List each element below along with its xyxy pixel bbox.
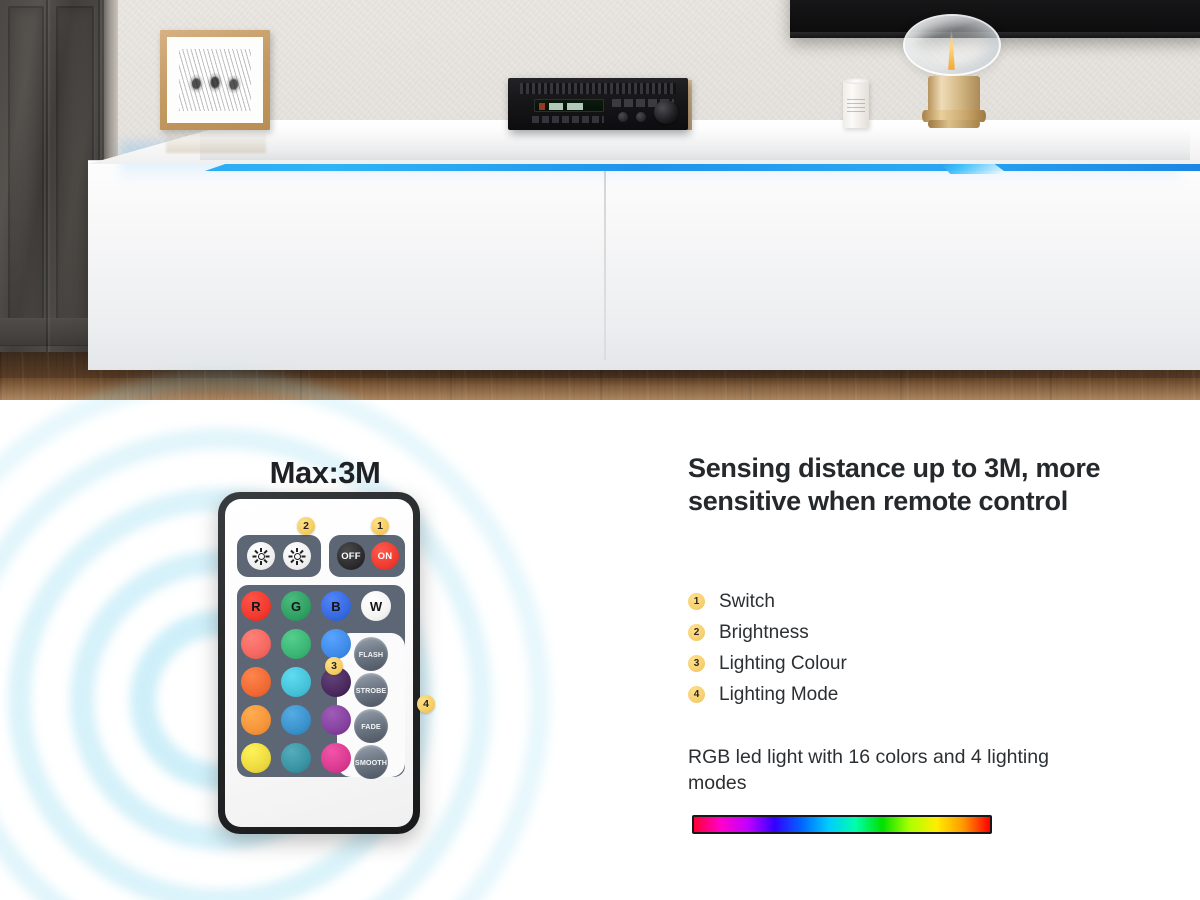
candle-top bbox=[843, 78, 869, 84]
marker-3: 3 bbox=[325, 657, 343, 675]
receiver-knob bbox=[636, 112, 646, 122]
mode-button-label: FLASH bbox=[359, 650, 383, 659]
legend-item-4: 4Lighting Mode bbox=[688, 679, 1108, 710]
receiver-button-row bbox=[532, 116, 604, 123]
color-button-label: B bbox=[331, 599, 340, 614]
subtext: RGB led light with 16 colors and 4 light… bbox=[688, 744, 1088, 797]
cabinet-body bbox=[88, 160, 1200, 370]
color-button[interactable] bbox=[281, 743, 311, 773]
color-button[interactable] bbox=[281, 705, 311, 735]
color-button-G[interactable]: G bbox=[281, 591, 311, 621]
rgb-spectrum-bar bbox=[692, 815, 992, 834]
sun-icon bbox=[254, 549, 269, 564]
legend-item-3: 3Lighting Colour bbox=[688, 648, 1108, 679]
room-photo bbox=[0, 0, 1200, 400]
power-on-button[interactable]: ON bbox=[371, 542, 399, 570]
color-button-label: G bbox=[291, 599, 301, 614]
headline: Sensing distance up to 3M, more sensitiv… bbox=[688, 452, 1108, 518]
panel-molding bbox=[8, 6, 44, 336]
lamp-base bbox=[928, 76, 980, 112]
color-button-B[interactable]: B bbox=[321, 591, 351, 621]
picture-frame bbox=[160, 30, 270, 130]
color-button[interactable] bbox=[321, 629, 351, 659]
receiver-display bbox=[534, 99, 604, 112]
frame-reflection bbox=[166, 131, 266, 153]
mode-button-strobe[interactable]: STROBE bbox=[354, 673, 388, 707]
frame-artwork bbox=[179, 49, 251, 111]
lamp-ring bbox=[928, 120, 980, 128]
legend-label: Lighting Colour bbox=[719, 653, 847, 675]
power-on-label: ON bbox=[378, 551, 393, 562]
frame-mat bbox=[167, 37, 263, 123]
mode-button-flash[interactable]: FLASH bbox=[354, 637, 388, 671]
legend-label: Brightness bbox=[719, 622, 809, 644]
remote-face: OFF ON RGBW FLASHSTROBEFADESMOOTH 2 1 3 … bbox=[225, 499, 413, 827]
color-button-label: W bbox=[370, 599, 382, 614]
marker-2: 2 bbox=[297, 517, 315, 535]
brightness-up-button[interactable] bbox=[247, 542, 275, 570]
receiver-volume-knob bbox=[654, 100, 678, 124]
marker-4: 4 bbox=[417, 695, 435, 713]
feature-legend: 1Switch2Brightness3Lighting Colour4Light… bbox=[688, 586, 1108, 710]
legend-badge: 1 bbox=[688, 593, 705, 610]
power-off-button[interactable]: OFF bbox=[337, 542, 365, 570]
product-infographic: Max:3M bbox=[0, 0, 1200, 900]
color-button-W[interactable]: W bbox=[361, 591, 391, 621]
cabinet-gloss bbox=[200, 128, 1190, 160]
remote-control: OFF ON RGBW FLASHSTROBEFADESMOOTH 2 1 3 … bbox=[218, 492, 420, 834]
marker-1: 1 bbox=[371, 517, 389, 535]
legend-item-1: 1Switch bbox=[688, 586, 1108, 617]
max-distance-label: Max:3M bbox=[255, 455, 395, 491]
mode-button-fade[interactable]: FADE bbox=[354, 709, 388, 743]
color-button[interactable] bbox=[281, 667, 311, 697]
av-receiver bbox=[508, 78, 688, 130]
sun-icon bbox=[290, 549, 305, 564]
color-button[interactable] bbox=[241, 629, 271, 659]
legend-label: Lighting Mode bbox=[719, 684, 838, 706]
legend-badge: 4 bbox=[688, 686, 705, 703]
color-button[interactable] bbox=[281, 629, 311, 659]
candle-jar bbox=[843, 80, 869, 128]
receiver-vent bbox=[520, 83, 676, 94]
legend-badge: 3 bbox=[688, 655, 705, 672]
legend-label: Switch bbox=[719, 591, 775, 613]
mode-button-smooth[interactable]: SMOOTH bbox=[354, 745, 388, 779]
mode-button-label: SMOOTH bbox=[355, 758, 387, 767]
receiver-knob bbox=[618, 112, 628, 122]
color-button[interactable] bbox=[321, 743, 351, 773]
color-button-R[interactable]: R bbox=[241, 591, 271, 621]
cabinet-divider bbox=[604, 160, 606, 360]
spectrum-fill bbox=[694, 817, 990, 832]
legend-badge: 2 bbox=[688, 624, 705, 641]
color-button[interactable] bbox=[321, 705, 351, 735]
color-button-label: R bbox=[251, 599, 260, 614]
legend-item-2: 2Brightness bbox=[688, 617, 1108, 648]
color-button[interactable] bbox=[241, 743, 271, 773]
color-button[interactable] bbox=[241, 667, 271, 697]
power-off-label: OFF bbox=[341, 551, 361, 562]
mode-button-label: FADE bbox=[361, 722, 381, 731]
color-button[interactable] bbox=[241, 705, 271, 735]
mode-button-label: STROBE bbox=[356, 686, 387, 695]
brightness-down-button[interactable] bbox=[283, 542, 311, 570]
